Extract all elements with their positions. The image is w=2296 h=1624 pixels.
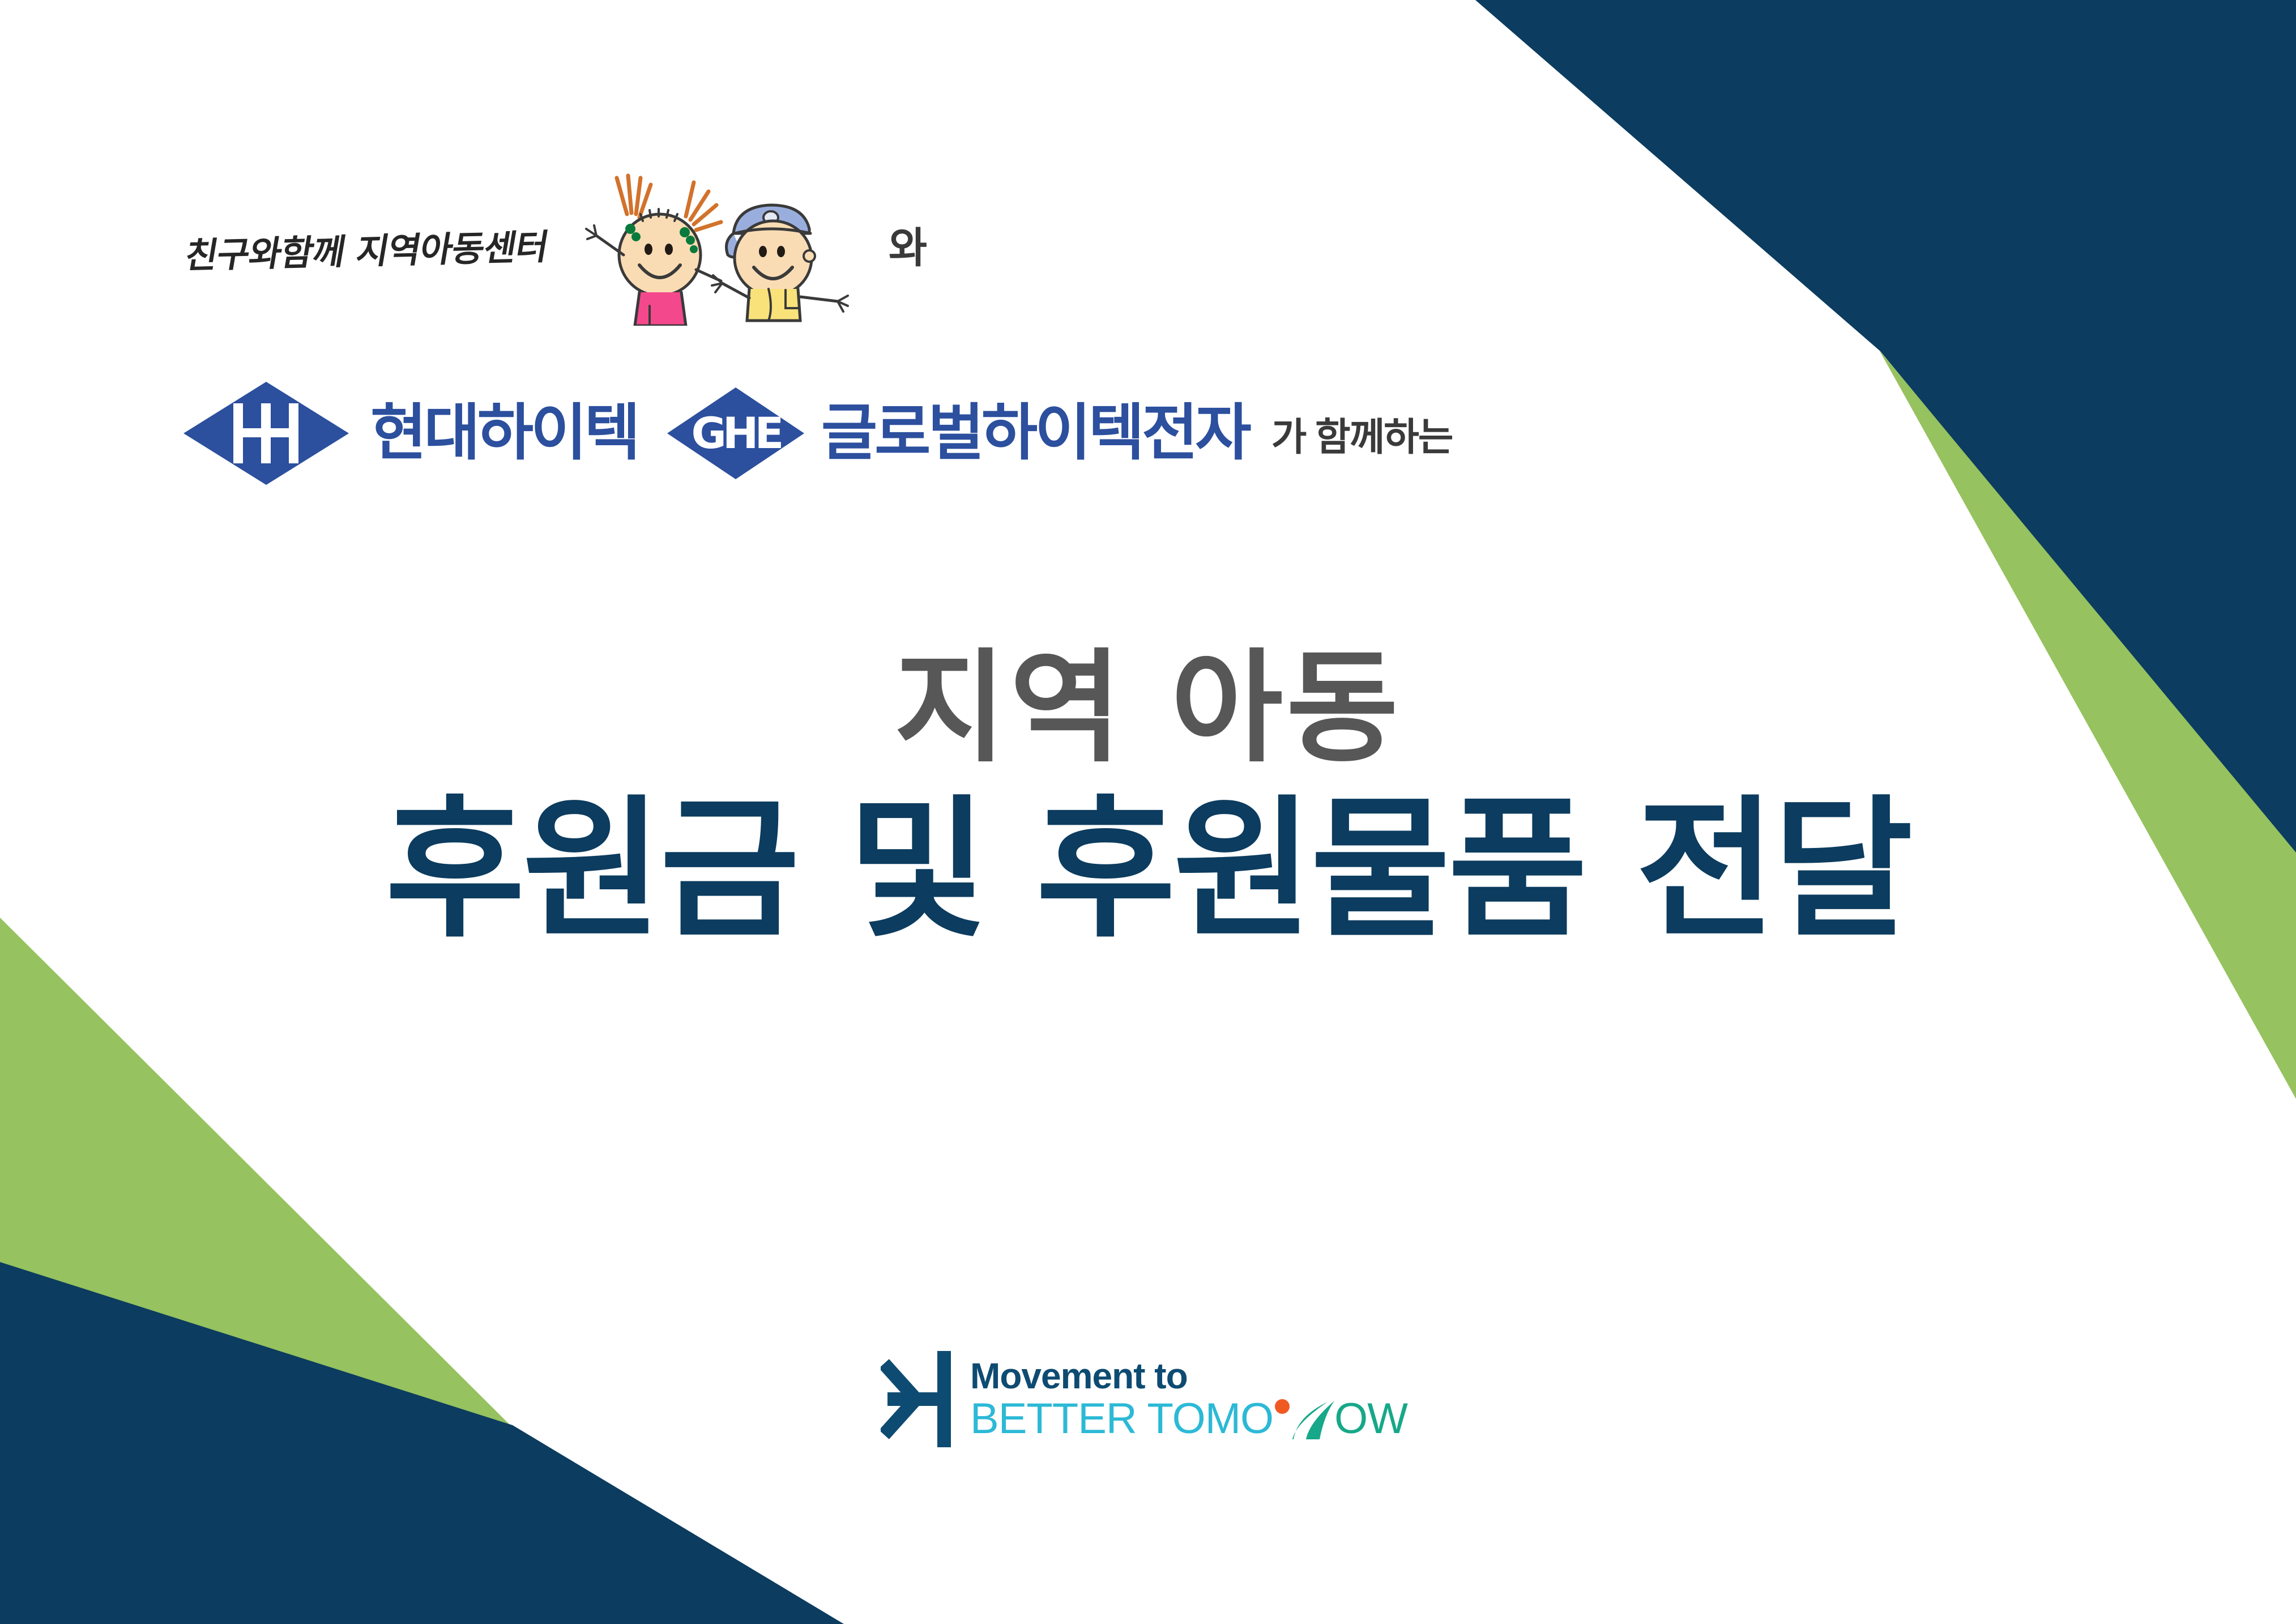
logo-line-1: Movement to — [970, 1358, 1407, 1394]
movement-to-better-tomorrow-logo: Movement to BETTER TOMO OW — [881, 1351, 1407, 1447]
partner-row-brands: 현대하이텍 GHE 글로벌하이텍전자 가 함께하는 — [181, 380, 1452, 487]
ghe-diamond-icon: GHE — [665, 385, 806, 481]
partner-row-top: 친구와함께 지역아동센터 — [187, 170, 927, 326]
global-hitech-name: 글로벌하이텍전자 — [821, 403, 1249, 464]
community-center-logo: 친구와함께 지역아동센터 — [187, 170, 855, 326]
title-line-2: 후원금 및 후원물품 전달 — [0, 782, 2296, 958]
slide-canvas: 친구와함께 지역아동센터 — [0, 0, 2296, 1624]
two-children-illustration — [560, 170, 855, 326]
hh-diamond-icon — [181, 380, 351, 487]
movement-arrow-mark — [881, 1351, 955, 1447]
title-line-1: 지역 아동 — [0, 640, 2296, 777]
global-hitech-logo: GHE 글로벌하이텍전자 — [665, 385, 1249, 481]
bottom-left-green-wedge — [0, 918, 572, 1624]
logo-line-2-part-a: BETTER TOMO — [970, 1397, 1273, 1440]
logo-wordmark: Movement to BETTER TOMO OW — [970, 1358, 1407, 1440]
svg-text:GHE: GHE — [691, 408, 781, 458]
logo-line-2: BETTER TOMO OW — [970, 1397, 1407, 1440]
bottom-left-navy-triangle — [0, 1262, 844, 1624]
connector-label-together: 가 함께하는 — [1271, 406, 1453, 462]
connector-label-wa: 와 — [889, 227, 927, 269]
page-title: 지역 아동 후원금 및 후원물품 전달 — [0, 640, 2296, 958]
rr-road-graphic-icon — [1271, 1397, 1337, 1439]
hyundai-hitech-logo: 현대하이텍 — [181, 380, 638, 487]
hyundai-hitech-name: 현대하이텍 — [370, 403, 638, 464]
logo-line-2-part-b: OW — [1334, 1397, 1407, 1440]
community-center-name-handwritten: 친구와함께 지역아동센터 — [182, 218, 553, 278]
